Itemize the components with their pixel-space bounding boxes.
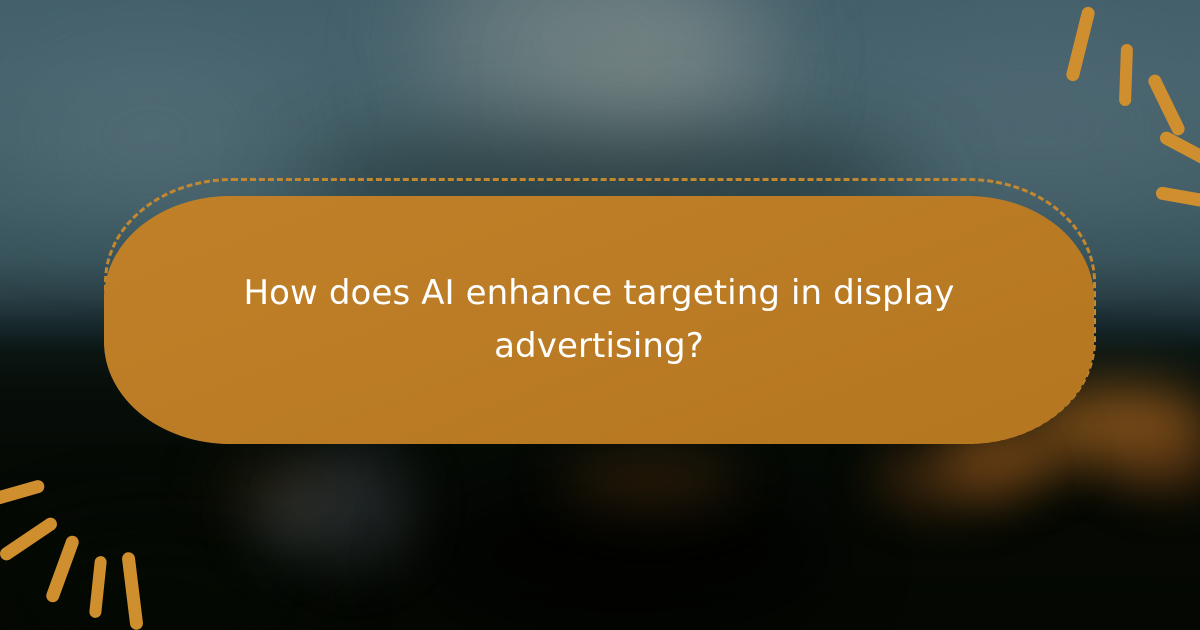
question-text: How does AI enhance targeting in display… — [239, 267, 959, 372]
question-card-graphic: How does AI enhance targeting in display… — [0, 0, 1200, 630]
question-card: How does AI enhance targeting in display… — [104, 196, 1094, 444]
